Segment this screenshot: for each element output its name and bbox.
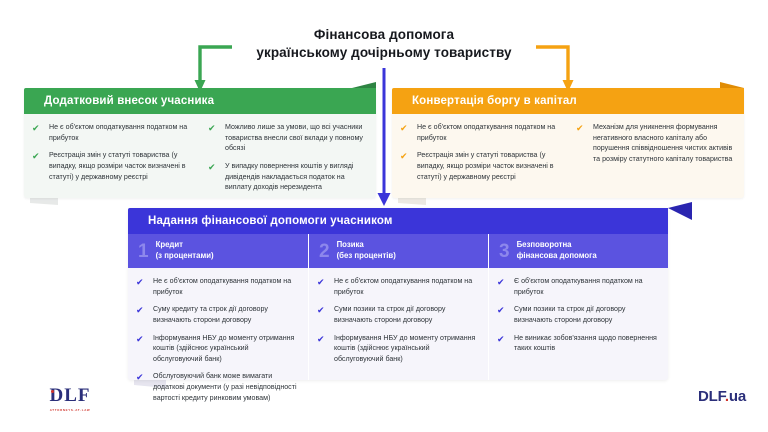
list-item: ✔ Суми позики та строк дії договору визн… (497, 304, 658, 325)
option-column-credit: 1 Кредит (з процентами) ✔ Не є об'єктом … (128, 234, 308, 380)
infographic-canvas: Фінансова допомога українському дочірньо… (0, 0, 768, 432)
option-title-line1: Позика (337, 240, 396, 251)
check-icon: ✔ (400, 123, 411, 133)
list-item-text: Суми позики та строк дії договору визнач… (514, 304, 658, 325)
list-item: ✔ Суми позики та строк дії договору визн… (317, 304, 478, 325)
list-item: ✔ Можливо лише за умови, що всі учасники… (208, 122, 366, 154)
list-item: ✔ Не є об'єктом оподаткування податком н… (136, 276, 298, 297)
list-item-text: У випадку повернення коштів у вигляді ди… (225, 161, 366, 193)
panel-column-1: ✔ Не є об'єктом оподаткування податком н… (392, 114, 568, 198)
list-item: ✔ Не є об'єктом оподаткування податком н… (400, 122, 558, 143)
logo-dlf-mark: DLF (50, 386, 91, 405)
option-column-grant: 3 Безповоротна фінансова допомога ✔ Є об… (488, 234, 668, 380)
list-item-text: Можливо лише за умови, що всі учасники т… (225, 122, 366, 154)
option-header: 1 Кредит (з процентами) (128, 234, 308, 268)
check-icon: ✔ (497, 277, 508, 287)
option-title: Кредит (з процентами) (156, 240, 214, 261)
logo-dlf-text: DLF (50, 385, 91, 406)
list-item-text: Не виникає зобов'язання щодо повернення … (514, 333, 658, 354)
list-item-text: Не є об'єктом оподаткування податком на … (334, 276, 478, 297)
panel-column-2: ✔ Механізм для уникнення формування нега… (568, 114, 744, 198)
check-icon: ✔ (576, 123, 587, 133)
option-title-line1: Кредит (156, 240, 214, 251)
list-item-text: Є об'єктом оподаткування податком на при… (514, 276, 658, 297)
check-icon: ✔ (208, 162, 219, 172)
panel-financial-aid-provision: Надання фінансової допомоги учасником 1 … (128, 208, 668, 380)
option-number: 1 (138, 242, 149, 261)
list-item: ✔ Інформування НБУ до моменту отримання … (317, 333, 478, 365)
panel-heading: Надання фінансової допомоги учасником (148, 208, 393, 234)
list-item-text: Обслуговуючий банк може вимагати додатко… (153, 371, 298, 403)
check-icon: ✔ (208, 123, 219, 133)
logo-dlf-ua-tld: ua (729, 388, 746, 405)
list-item: ✔ Реєстрація змін у статуті товариства (… (400, 150, 558, 182)
panel-column-1: ✔ Не є об'єктом оподаткування податком н… (24, 114, 200, 198)
list-item-text: Реєстрація змін у статуті товариства (у … (417, 150, 558, 182)
list-item: ✔ Не виникає зобов'язання щодо поверненн… (497, 333, 658, 354)
check-icon: ✔ (497, 305, 508, 315)
logo-dlf: DLF ATTORNEYS-AT-LAW (24, 386, 116, 412)
panel-heading: Конвертація боргу в капітал (412, 88, 577, 114)
option-title: Позика (без процентів) (337, 240, 396, 261)
list-item: ✔ Не є об'єктом оподаткування податком н… (317, 276, 478, 297)
list-item-text: Суму кредиту та строк дії договору визна… (153, 304, 298, 325)
option-number: 2 (319, 242, 330, 261)
logo-dlf-ua[interactable]: DLF.ua (698, 388, 746, 405)
list-item-text: Реєстрація змін у статуті товариства (у … (49, 150, 190, 182)
orange-panel-shadow-tab (398, 198, 426, 205)
check-icon: ✔ (317, 277, 328, 287)
check-icon: ✔ (136, 372, 147, 382)
panel-heading: Додатковий внесок учасника (44, 88, 214, 114)
panel-column-2: ✔ Можливо лише за умови, що всі учасники… (200, 114, 376, 198)
check-icon: ✔ (136, 334, 147, 344)
page-title: Фінансова допомога українському дочірньо… (184, 26, 584, 62)
list-item-text: Не є об'єктом оподаткування податком на … (417, 122, 558, 143)
check-icon: ✔ (400, 151, 411, 161)
list-item: ✔ Обслуговуючий банк може вимагати додат… (136, 371, 298, 403)
option-title: Безповоротна фінансова допомога (517, 240, 597, 261)
option-column-loan: 2 Позика (без процентів) ✔ Не є об'єктом… (308, 234, 488, 380)
list-item: ✔ У випадку повернення коштів у вигляді … (208, 161, 366, 193)
list-item-text: Інформування НБУ до моменту отримання ко… (153, 333, 298, 365)
list-item: ✔ Інформування НБУ до моменту отримання … (136, 333, 298, 365)
page-title-line1: Фінансова допомога (184, 26, 584, 44)
option-header: 2 Позика (без процентів) (309, 234, 488, 268)
check-icon: ✔ (497, 334, 508, 344)
check-icon: ✔ (32, 151, 43, 161)
option-title-line1: Безповоротна (517, 240, 597, 251)
panel-debt-to-capital: Конвертація боргу в капітал ✔ Не є об'єк… (392, 88, 744, 198)
list-item-text: Механізм для уникнення формування негати… (593, 122, 734, 165)
option-title-line2: (з процентами) (156, 251, 214, 262)
list-item-text: Не є об'єктом оподаткування податком на … (153, 276, 298, 297)
logo-dlf-ua-name: DLF (698, 388, 725, 405)
check-icon: ✔ (317, 334, 328, 344)
blue-ribbon-fold (668, 202, 692, 220)
list-item: ✔ Не є об'єктом оподаткування податком н… (32, 122, 190, 143)
logo-dlf-dot (51, 390, 54, 393)
green-panel-shadow-tab (30, 198, 58, 205)
blue-connector-arrow (378, 68, 391, 206)
list-item: ✔ Суму кредиту та строк дії договору виз… (136, 304, 298, 325)
panel-columns: 1 Кредит (з процентами) ✔ Не є об'єктом … (128, 234, 668, 380)
panel-columns: ✔ Не є об'єктом оподаткування податком н… (24, 114, 376, 198)
check-icon: ✔ (317, 305, 328, 315)
option-title-line2: (без процентів) (337, 251, 396, 262)
page-title-line2: українському дочірньому товариству (184, 44, 584, 62)
list-item: ✔ Реєстрація змін у статуті товариства (… (32, 150, 190, 182)
check-icon: ✔ (136, 305, 147, 315)
option-title-line2: фінансова допомога (517, 251, 597, 262)
list-item: ✔ Механізм для уникнення формування нега… (576, 122, 734, 165)
option-bullets: ✔ Не є об'єктом оподаткування податком н… (309, 268, 488, 375)
panel-additional-contribution: Додатковий внесок учасника ✔ Не є об'єкт… (24, 88, 376, 198)
list-item: ✔ Є об'єктом оподаткування податком на п… (497, 276, 658, 297)
panel-columns: ✔ Не є об'єктом оподаткування податком н… (392, 114, 744, 198)
option-header: 3 Безповоротна фінансова допомога (489, 234, 668, 268)
logo-dlf-tagline: ATTORNEYS-AT-LAW (24, 408, 116, 412)
check-icon: ✔ (136, 277, 147, 287)
list-item-text: Інформування НБУ до моменту отримання ко… (334, 333, 478, 365)
list-item-text: Не є об'єктом оподаткування податком на … (49, 122, 190, 143)
option-bullets: ✔ Не є об'єктом оподаткування податком н… (128, 268, 308, 414)
option-bullets: ✔ Є об'єктом оподаткування податком на п… (489, 268, 668, 365)
list-item-text: Суми позики та строк дії договору визнач… (334, 304, 478, 325)
option-number: 3 (499, 242, 510, 261)
check-icon: ✔ (32, 123, 43, 133)
